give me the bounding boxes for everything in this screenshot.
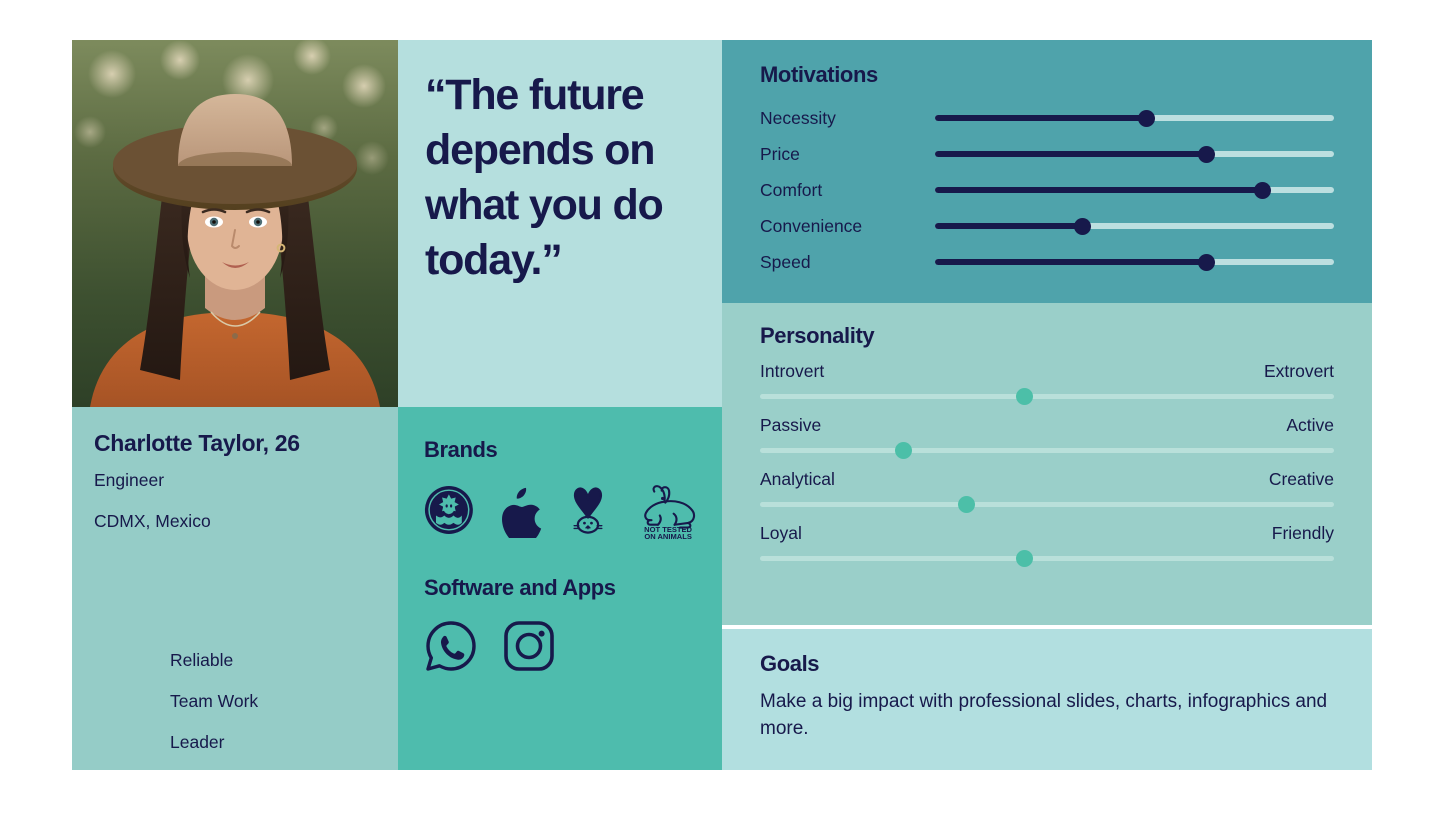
brands-panel: Brands [398,407,722,770]
starbucks-icon[interactable] [424,483,474,537]
motivation-row-speed: Speed [760,244,1334,280]
personality-slider[interactable] [760,448,1334,453]
motivation-label: Speed [760,252,935,273]
personality-label-left: Passive [760,415,821,436]
motivations-title: Motivations [760,62,1334,88]
instagram-icon[interactable] [502,619,556,673]
profile-occupation: Engineer [94,470,376,490]
personality-panel: Personality Introvert Extrovert Passive … [722,303,1372,625]
quote-panel: “The future depends on what you do today… [398,40,722,407]
profile-name: Charlotte Taylor, 26 [94,431,376,456]
motivation-label: Price [760,144,935,165]
motivation-fill [935,115,1146,121]
profile-photo-image [72,40,398,407]
brands-icon-row: NOT TESTED ON ANIMALS [424,481,702,539]
personality-row-introvert-extrovert: Introvert Extrovert [760,361,1334,399]
motivation-label: Comfort [760,180,935,201]
motivations-panel: Motivations Necessity Price Comfort Conv… [722,40,1372,303]
motivation-knob [1198,146,1215,163]
personality-row-loyal-friendly: Loyal Friendly [760,523,1334,561]
personality-slider[interactable] [760,556,1334,561]
motivation-row-price: Price [760,136,1334,172]
motivation-slider[interactable] [935,223,1334,229]
cruelty-free-bunny-icon[interactable] [564,482,612,538]
personality-knob [1016,388,1033,405]
personality-label-right: Friendly [1272,523,1334,544]
personality-label-left: Loyal [760,523,802,544]
personality-knob [895,442,912,459]
motivation-slider[interactable] [935,259,1334,265]
quote-text: “The future depends on what you do today… [425,68,702,288]
motivation-knob [1138,110,1155,127]
persona-card: Charlotte Taylor, 26 Engineer CDMX, Mexi… [72,40,1372,770]
motivation-fill [935,187,1262,193]
goals-title: Goals [760,651,1334,677]
personality-knob [1016,550,1033,567]
not-tested-line-2: ON ANIMALS [644,532,692,539]
brands-heading: Brands [424,437,702,463]
motivation-knob [1254,182,1271,199]
motivation-slider[interactable] [935,151,1334,157]
personality-title: Personality [760,323,1334,349]
personality-label-right: Creative [1269,469,1334,490]
list-item: Reliable [170,650,370,670]
motivation-slider[interactable] [935,115,1334,121]
profile-info-panel: Charlotte Taylor, 26 Engineer CDMX, Mexi… [72,407,398,770]
motivation-knob [1074,218,1091,235]
personality-slider[interactable] [760,502,1334,507]
motivation-label: Convenience [760,216,935,237]
motivation-label: Necessity [760,108,935,129]
personality-label-left: Analytical [760,469,835,490]
personality-slider[interactable] [760,394,1334,399]
personality-label-right: Extrovert [1264,361,1334,382]
personality-row-analytical-creative: Analytical Creative [760,469,1334,507]
apple-icon[interactable] [496,482,542,538]
motivation-row-convenience: Convenience [760,208,1334,244]
list-item: Team Work [170,691,370,711]
motivation-fill [935,223,1083,229]
motivation-knob [1198,254,1215,271]
profile-photo [72,40,398,407]
whatsapp-icon[interactable] [424,619,478,673]
profile-location: CDMX, Mexico [94,511,376,531]
goals-panel: Goals Make a big impact with professiona… [722,629,1372,770]
software-heading: Software and Apps [424,575,702,601]
personality-row-passive-active: Passive Active [760,415,1334,453]
motivation-row-necessity: Necessity [760,100,1334,136]
profile-traits-list: Reliable Team Work Leader [170,650,370,758]
motivation-slider[interactable] [935,187,1334,193]
goals-body: Make a big impact with professional slid… [760,689,1334,743]
personality-label-left: Introvert [760,361,824,382]
personality-knob [958,496,975,513]
motivation-fill [935,151,1206,157]
software-icon-row [424,619,702,673]
not-tested-on-animals-icon[interactable]: NOT TESTED ON ANIMALS [634,481,702,539]
motivation-fill [935,259,1206,265]
motivation-row-comfort: Comfort [760,172,1334,208]
personality-label-right: Active [1286,415,1334,436]
list-item: Leader [170,732,370,752]
